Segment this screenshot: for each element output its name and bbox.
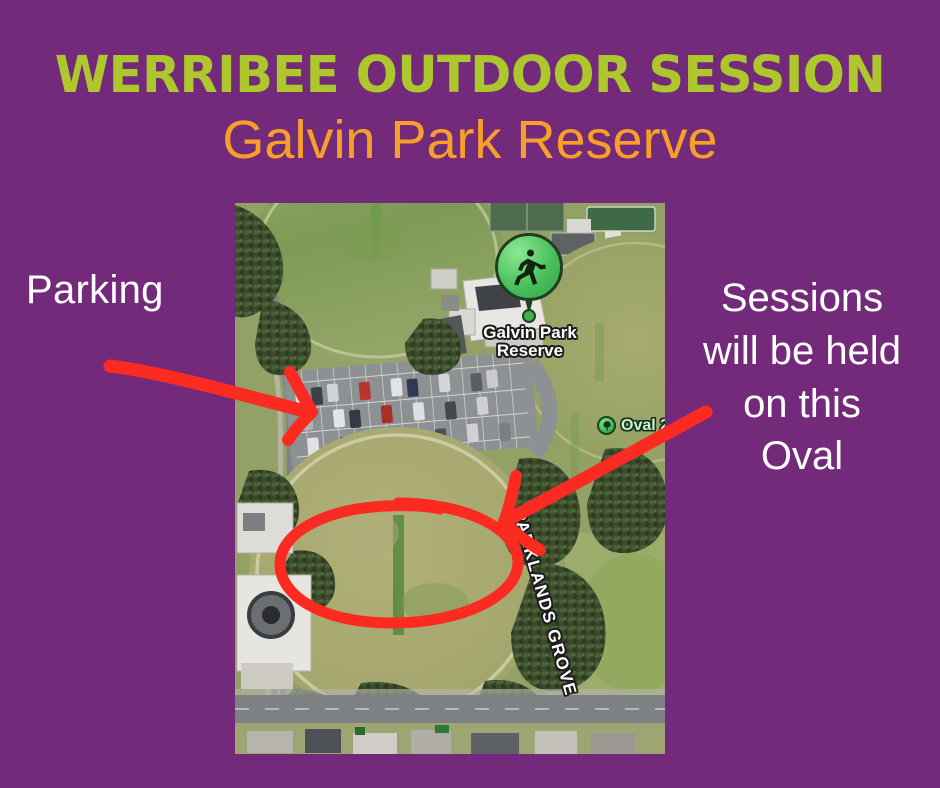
sessions-note-line-2: will be held: [678, 325, 926, 378]
satellite-map[interactable]: Oval 2 Number 1 Oval: [235, 203, 665, 754]
poster-canvas: WERRIBEE OUTDOOR SESSION Galvin Park Res…: [0, 0, 940, 788]
tree-icon: [597, 416, 616, 435]
map-label-oval-2[interactable]: Oval 2: [597, 416, 665, 437]
sessions-note-line-1: Sessions: [678, 272, 926, 325]
page-title: WERRIBEE OUTDOOR SESSION: [14, 50, 926, 101]
page-subtitle: Galvin Park Reserve: [0, 113, 940, 167]
map-label-parklands-grove[interactable]: PARKLANDS GROVE: [508, 508, 580, 699]
sessions-annotation-label: Sessions will be held on this Oval: [678, 272, 926, 483]
sessions-note-line-3: on this: [678, 378, 926, 431]
map-label-layer: Oval 2 Number 1 Oval: [235, 203, 665, 754]
map-label-oval-2-text: Oval 2: [621, 417, 665, 435]
sessions-note-line-4: Oval: [678, 430, 926, 483]
parking-annotation-label: Parking: [26, 268, 164, 313]
